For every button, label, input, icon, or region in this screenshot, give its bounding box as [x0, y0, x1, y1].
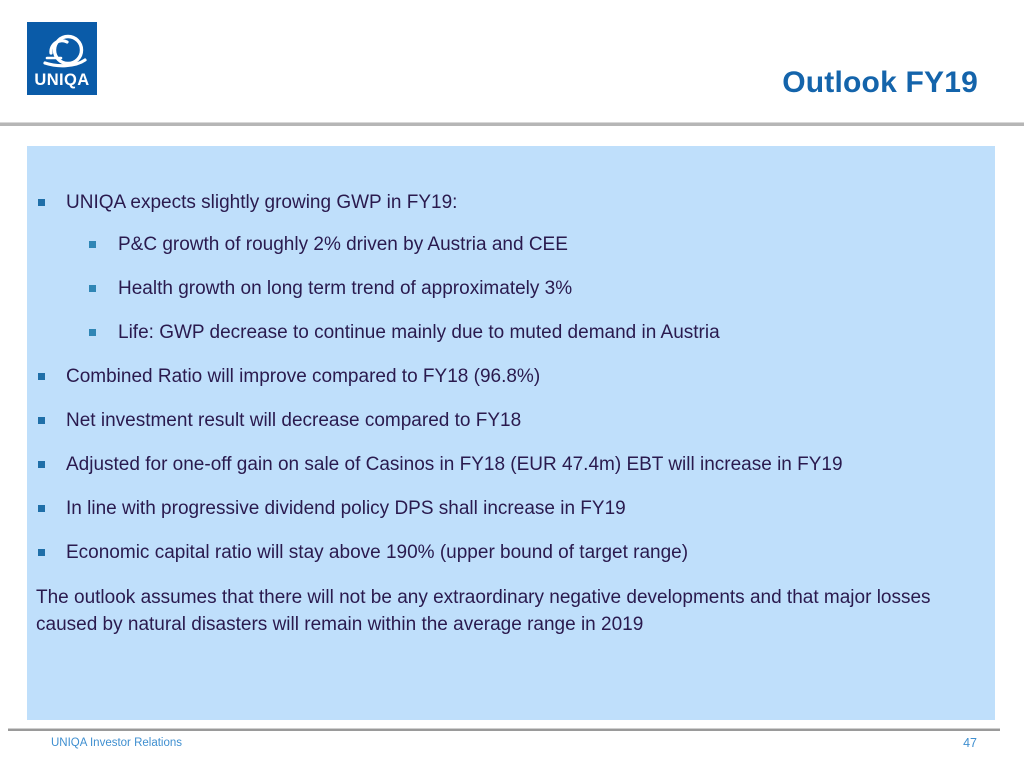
- bullet-square-icon: [38, 549, 45, 556]
- list-item: Economic capital ratio will stay above 1…: [27, 540, 995, 566]
- list-item: Combined Ratio will improve compared to …: [27, 364, 995, 390]
- page-number: 47: [963, 736, 977, 750]
- page-title: Outlook FY19: [782, 66, 978, 100]
- bullet-square-icon: [38, 373, 45, 380]
- footer-label: UNIQA Investor Relations: [51, 737, 182, 749]
- bullet-square-icon: [38, 461, 45, 468]
- bullet-square-icon: [89, 285, 96, 292]
- logo-wordmark: UNIQA: [34, 71, 89, 89]
- list-item-label: Life: GWP decrease to continue mainly du…: [118, 320, 995, 346]
- list-item-label: Economic capital ratio will stay above 1…: [66, 540, 995, 566]
- list-item: Life: GWP decrease to continue mainly du…: [27, 320, 995, 346]
- list-item: Health growth on long term trend of appr…: [27, 276, 995, 302]
- list-item: Adjusted for one-off gain on sale of Cas…: [27, 452, 995, 478]
- header-divider: [0, 122, 1024, 126]
- content-panel: UNIQA expects slightly growing GWP in FY…: [27, 146, 995, 720]
- list-item: P&C growth of roughly 2% driven by Austr…: [27, 232, 995, 258]
- bullet-square-icon: [38, 417, 45, 424]
- list-item-label: In line with progressive dividend policy…: [66, 496, 995, 522]
- list-item-label: Combined Ratio will improve compared to …: [66, 364, 995, 390]
- bullet-square-icon: [38, 505, 45, 512]
- footer-divider: [8, 728, 1000, 731]
- bullet-square-icon: [89, 241, 96, 248]
- closing-note: The outlook assumes that there will not …: [27, 584, 995, 638]
- uniqa-logo-icon: UNIQA: [27, 22, 97, 95]
- list-item: In line with progressive dividend policy…: [27, 496, 995, 522]
- list-item: UNIQA expects slightly growing GWP in FY…: [27, 190, 995, 216]
- uniqa-logo: UNIQA: [27, 22, 97, 95]
- list-item: Net investment result will decrease comp…: [27, 408, 995, 434]
- slide-header: UNIQA Outlook FY19: [0, 0, 1024, 122]
- outlook-bullet-list: UNIQA expects slightly growing GWP in FY…: [27, 190, 995, 638]
- list-item-label: Adjusted for one-off gain on sale of Cas…: [66, 452, 995, 478]
- list-item-label: Net investment result will decrease comp…: [66, 408, 995, 434]
- bullet-square-icon: [38, 199, 45, 206]
- list-item-label: Health growth on long term trend of appr…: [118, 276, 995, 302]
- sub-list-group: P&C growth of roughly 2% driven by Austr…: [27, 232, 995, 346]
- list-item-label: UNIQA expects slightly growing GWP in FY…: [66, 190, 995, 216]
- bullet-square-icon: [89, 329, 96, 336]
- list-item-label: P&C growth of roughly 2% driven by Austr…: [118, 232, 995, 258]
